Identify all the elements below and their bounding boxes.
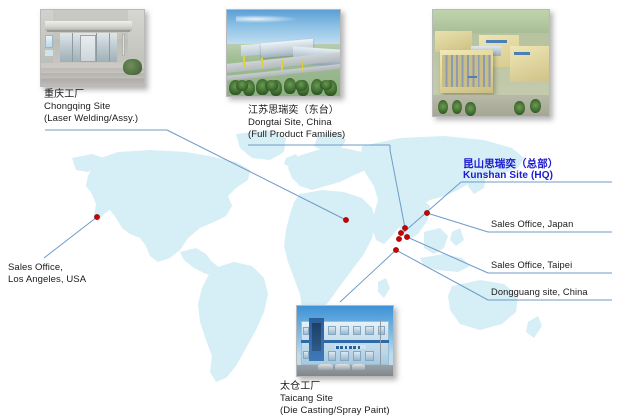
label-kunshan-cn: 昆山思瑞奕（总部） [463,158,558,170]
label-dongtai-cn: 江苏思瑞奕（东台） [248,105,345,117]
marker-japan [424,210,429,215]
leader-los-angeles [44,217,97,258]
label-taicang-detail: (Die Casting/Spray Paint) [280,405,390,417]
marker-taicang [393,247,398,252]
marker-los-angeles [94,214,99,219]
marker-chongqing [343,217,348,222]
label-taicang-en: Taicang Site [280,393,390,405]
photo-chongqing [40,9,145,87]
label-dongtai-detail: (Full Product Families) [248,129,345,141]
label-sales-office-japan: Sales Office, Japan [491,219,573,230]
marker-taipei [404,234,409,239]
label-la-line1: Sales Office, [8,262,86,274]
label-kunshan-hq: 昆山思瑞奕（总部） Kunshan Site (HQ) [463,158,558,183]
label-chongqing-en: Chongqing Site [44,101,138,113]
marker-kunshan [398,230,403,235]
label-japan-text: Sales Office, Japan [491,219,573,230]
label-los-angeles: Sales Office, Los Angeles, USA [8,262,86,285]
label-kunshan-en: Kunshan Site (HQ) [463,170,558,183]
tree-row [227,62,340,96]
slide-canvas: 重庆工厂 Chongqing Site (Laser Welding/Assy.… [0,0,622,418]
label-chongqing: 重庆工厂 Chongqing Site (Laser Welding/Assy.… [44,89,138,125]
marker-shanghai [396,236,401,241]
leader-chongqing [45,130,346,220]
site-markers [94,210,429,252]
leader-dongtai [248,145,405,228]
photo-kunshan-hq [432,9,550,117]
label-taicang-cn: 太仓工厂 [280,381,390,393]
label-taipei-text: Sales Office, Taipei [491,260,572,271]
label-chongqing-detail: (Laser Welding/Assy.) [44,113,138,125]
label-dongguang-text: Dongguang site, China [491,287,588,298]
leader-taicang [340,250,396,302]
marker-dongtai [402,225,407,230]
photo-dongtai [226,9,341,97]
label-dongtai: 江苏思瑞奕（东台） Dongtai Site, China (Full Prod… [248,105,345,141]
label-taicang: 太仓工厂 Taicang Site (Die Casting/Spray Pai… [280,381,390,417]
label-chongqing-cn: 重庆工厂 [44,89,138,101]
label-sales-office-taipei: Sales Office, Taipei [491,260,572,271]
label-dongtai-en: Dongtai Site, China [248,117,345,129]
label-dongguang-site: Dongguang site, China [491,287,588,298]
photo-taicang [296,305,394,377]
label-la-line2: Los Angeles, USA [8,274,86,286]
